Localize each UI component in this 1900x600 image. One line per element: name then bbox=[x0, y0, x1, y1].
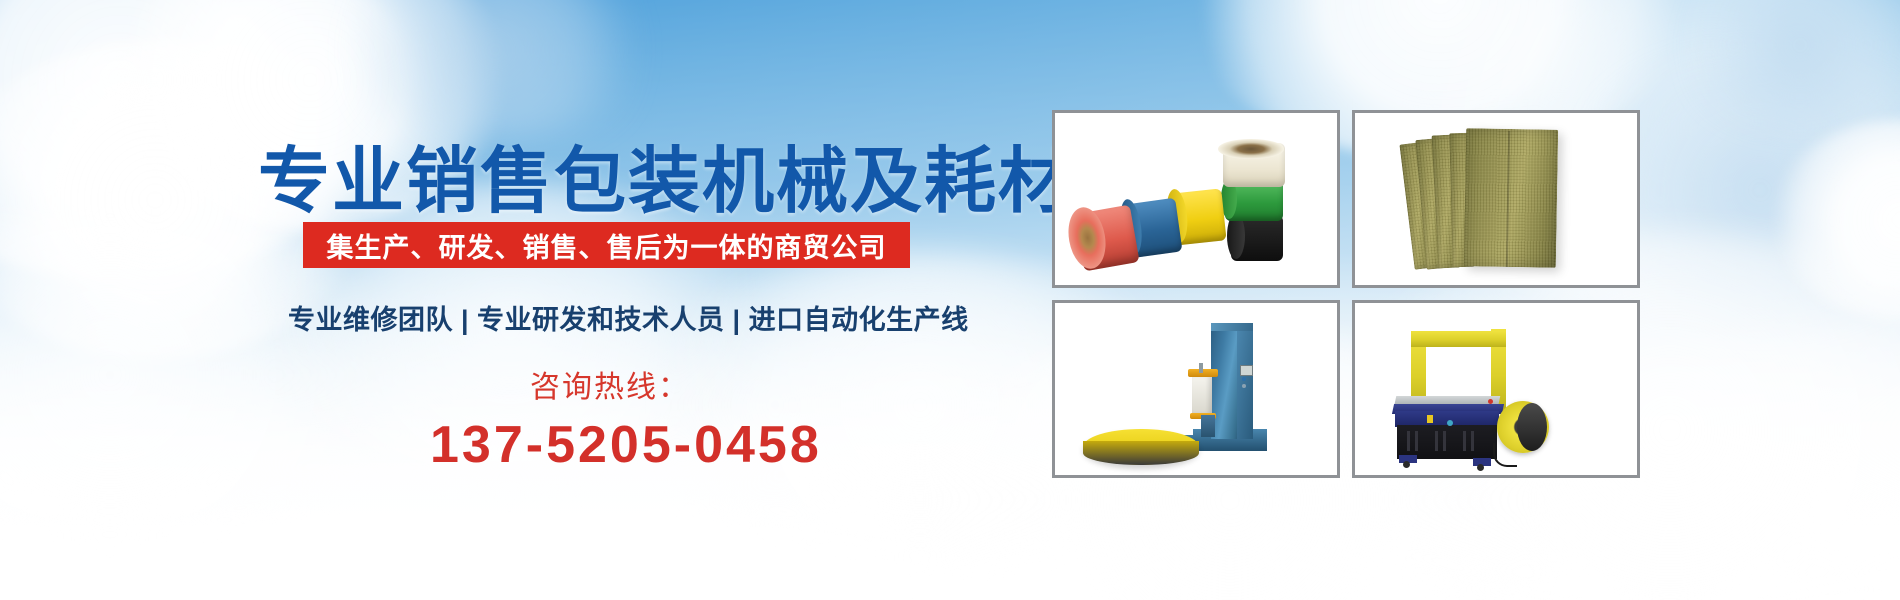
text-column: 专业销售包装机械及耗材 集生产、研发、销售、售后为一体的商贸公司 专业维修团队 … bbox=[0, 0, 1040, 600]
tagline-badge: 集生产、研发、销售、售后为一体的商贸公司 bbox=[303, 222, 910, 268]
stretch-wrapper-image bbox=[1055, 303, 1337, 475]
product-photo-woven-sacks[interactable] bbox=[1352, 110, 1640, 288]
product-photo-strapping-bands[interactable] bbox=[1052, 110, 1340, 288]
hotline-phone-number[interactable]: 137-5205-0458 bbox=[430, 415, 822, 475]
woven-sacks-image bbox=[1355, 113, 1637, 285]
product-photo-strapping-machine[interactable] bbox=[1352, 300, 1640, 478]
page-title: 专业销售包装机械及耗材 bbox=[258, 122, 1072, 227]
strapping-bands-image bbox=[1055, 113, 1337, 285]
product-photo-stretch-wrapper[interactable] bbox=[1052, 300, 1340, 478]
tagline-badge-label: 集生产、研发、销售、售后为一体的商贸公司 bbox=[327, 226, 887, 265]
product-photo-grid bbox=[1052, 110, 1642, 480]
strapping-machine-image bbox=[1355, 303, 1637, 475]
feature-list: 专业维修团队 | 专业研发和技术人员 | 进口自动化生产线 bbox=[288, 298, 969, 337]
promo-banner: 专业销售包装机械及耗材 集生产、研发、销售、售后为一体的商贸公司 专业维修团队 … bbox=[0, 0, 1900, 600]
hotline-label: 咨询热线： bbox=[530, 362, 690, 406]
